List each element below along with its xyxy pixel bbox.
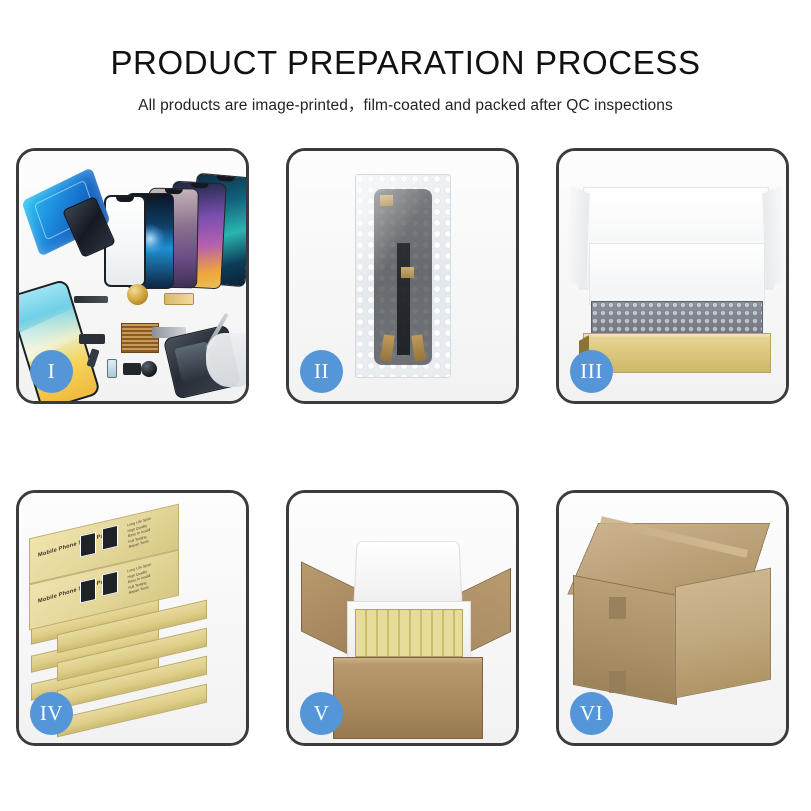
process-step-5: V [286, 490, 519, 746]
step-badge-1: I [30, 350, 73, 393]
box-screen-image-b [102, 571, 118, 597]
box-screen-image-b [102, 525, 118, 551]
carton-side-face [675, 568, 771, 699]
connector-strip-icon [74, 296, 108, 303]
step-badge-5: V [300, 692, 343, 735]
process-step-1: I [16, 148, 249, 404]
step-badge-4: IV [30, 692, 73, 735]
connector-c-icon [123, 363, 141, 375]
gold-flex-cable-icon [164, 293, 194, 305]
tape-mid-icon [401, 267, 414, 278]
process-step-6: VI [556, 490, 789, 746]
carton-body [333, 657, 483, 739]
step-badge-6: VI [570, 692, 613, 735]
bubble-wrap-sleeve-icon [355, 174, 451, 378]
process-step-2: II [286, 148, 519, 404]
box-label-text: Mobile Phone Spare Parts [38, 531, 112, 559]
product-preparation-infographic: PRODUCT PREPARATION PROCESS All products… [0, 0, 811, 811]
hand-icon [206, 333, 246, 387]
box-label-text: Mobile Phone Spare Parts [38, 577, 112, 605]
foam-sheet-icon [589, 243, 765, 305]
header: PRODUCT PREPARATION PROCESS All products… [0, 0, 811, 115]
foam-lid-icon [353, 541, 462, 605]
small-component-icon [107, 359, 117, 378]
step-badge-3: III [570, 350, 613, 393]
box-feature-list: Long Life Span High Quality Easy to Inst… [127, 516, 153, 551]
page-subtitle: All products are image-printed，film-coat… [0, 93, 811, 115]
tape-top-icon [380, 195, 393, 206]
gold-chip-icon [127, 284, 148, 305]
flex-cable-icon [397, 243, 410, 355]
step-badge-2: II [300, 350, 343, 393]
packing-tape-lower-icon [609, 671, 626, 693]
bubble-wrap-layer-icon [591, 301, 763, 337]
process-step-3: III [556, 148, 789, 404]
process-step-grid: I II [16, 148, 795, 746]
box-screen-image-a [80, 578, 96, 604]
page-title: PRODUCT PREPARATION PROCESS [0, 44, 811, 82]
connector-a-icon [79, 334, 105, 344]
process-step-4: Mobile Phone Spare Parts Long Life Span … [16, 490, 249, 746]
box-feature-list: Long Life Span High Quality Easy to Inst… [127, 562, 153, 597]
kraft-boxes-inside-icon [355, 609, 463, 657]
box-screen-image-a [80, 532, 96, 558]
cardboard-carton-icon [305, 539, 505, 719]
camera-module-icon [141, 361, 157, 377]
packing-tape-upper-icon [609, 597, 626, 619]
